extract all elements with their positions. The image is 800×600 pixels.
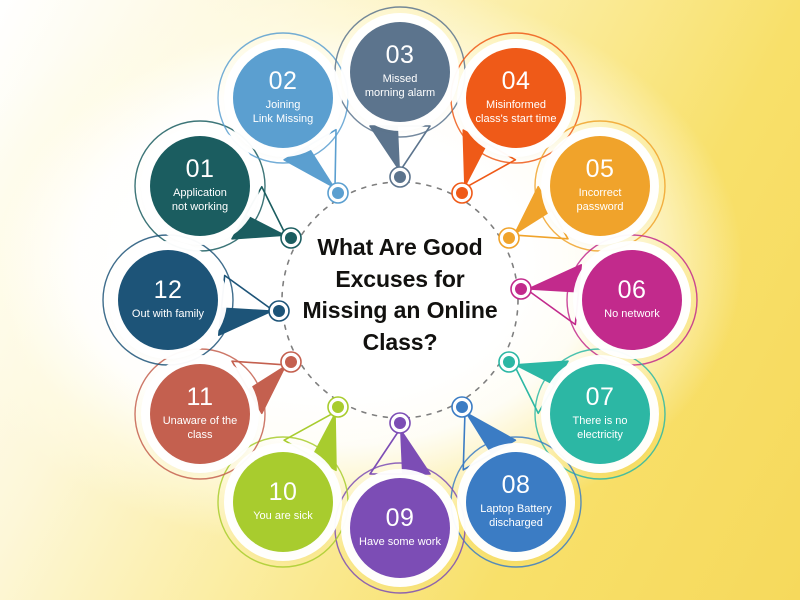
node-number-11: 11 [187,385,214,410]
node-number-04: 04 [502,69,531,94]
node-bubble-04[interactable]: 04Misinformedclass's start time [466,48,566,148]
node-pointer-fill-12 [219,307,273,335]
connector-dot-08[interactable] [456,401,468,413]
infographic-canvas: What Are Good Excuses for Missing an Onl… [0,0,800,600]
page-title: What Are Good Excuses for Missing an Onl… [283,232,517,359]
node-number-06: 06 [618,278,647,303]
node-number-12: 12 [154,278,183,303]
node-label-11: Unaware of theclass [156,415,245,443]
connector-dot-02[interactable] [332,187,344,199]
node-bubble-03[interactable]: 03Missedmorning alarm [350,22,450,122]
node-bubble-05[interactable]: 05Incorrectpassword [550,136,650,236]
node-label-line1-09: Have some work [359,536,441,550]
connector-dot-03[interactable] [394,171,406,183]
title-line-1: What Are Good [283,232,517,264]
node-pointer-fill-11 [248,365,286,413]
node-pointer-fill-06 [527,265,581,293]
node-label-09: Have some work [352,536,448,550]
node-label-line1-06: No network [604,308,660,322]
node-label-line1-10: You are sick [253,510,313,524]
node-label-12: Out with family [125,308,211,322]
node-label-line1-04: Misinformed [476,99,557,113]
node-bubble-06[interactable]: 06No network [582,250,682,350]
node-pointer-fill-09 [400,429,430,474]
node-number-03: 03 [386,43,415,68]
node-number-05: 05 [586,157,615,182]
node-label-line1-07: There is no [572,415,627,429]
connector-dot-04[interactable] [456,187,468,199]
node-bubble-09[interactable]: 09Have some work [350,478,450,578]
node-number-09: 09 [386,506,415,531]
node-label-line2-05: password [576,201,623,215]
node-label-06: No network [597,308,667,322]
node-pointer-fill-10 [312,412,336,470]
node-label-line1-05: Incorrect [576,187,623,201]
node-number-08: 08 [502,473,531,498]
connector-dot-09[interactable] [394,417,406,429]
title-line-2: Excuses for [283,264,517,296]
node-bubble-11[interactable]: 11Unaware of theclass [150,364,250,464]
node-label-line2-04: class's start time [476,113,557,127]
node-label-03: Missedmorning alarm [358,73,442,101]
node-label-line1-03: Missed [365,73,435,87]
node-number-10: 10 [269,480,298,505]
node-label-line1-08: Laptop Battery [480,503,552,517]
node-label-line2-08: discharged [480,517,552,531]
node-label-02: JoiningLink Missing [246,99,321,127]
node-label-line1-02: Joining [253,99,314,113]
node-label-line2-07: electricity [572,429,627,443]
node-label-line2-02: Link Missing [253,113,314,127]
node-pointer-fill-08 [465,412,515,454]
node-label-line1-01: Application [172,187,228,201]
connector-dot-10[interactable] [332,401,344,413]
node-label-01: Applicationnot working [165,187,235,215]
node-label-04: Misinformedclass's start time [469,99,564,127]
node-number-02: 02 [269,69,298,94]
node-pointer-fill-04 [463,130,487,188]
node-number-07: 07 [586,385,615,410]
node-label-line1-11: Unaware of the [163,415,238,429]
node-bubble-08[interactable]: 08Laptop Batterydischarged [466,452,566,552]
node-label-05: Incorrectpassword [569,187,630,215]
node-label-line2-11: class [163,429,238,443]
node-bubble-01[interactable]: 01Applicationnot working [150,136,250,236]
node-label-10: You are sick [246,510,320,524]
node-bubble-02[interactable]: 02JoiningLink Missing [233,48,333,148]
node-label-07: There is noelectricity [565,415,634,443]
node-label-line2-03: morning alarm [365,87,435,101]
node-pointer-fill-02 [284,146,335,188]
node-pointer-fill-03 [370,126,400,171]
title-line-3: Missing an Online [283,295,517,327]
node-bubble-10[interactable]: 10You are sick [233,452,333,552]
node-bubble-07[interactable]: 07There is noelectricity [550,364,650,464]
node-label-08: Laptop Batterydischarged [473,503,559,531]
node-pointer-fill-05 [514,187,552,235]
node-bubble-12[interactable]: 12Out with family [118,250,218,350]
node-label-line1-12: Out with family [132,308,204,322]
node-number-01: 01 [186,157,215,182]
title-line-4: Class? [283,327,517,359]
node-label-line2-01: not working [172,201,228,215]
